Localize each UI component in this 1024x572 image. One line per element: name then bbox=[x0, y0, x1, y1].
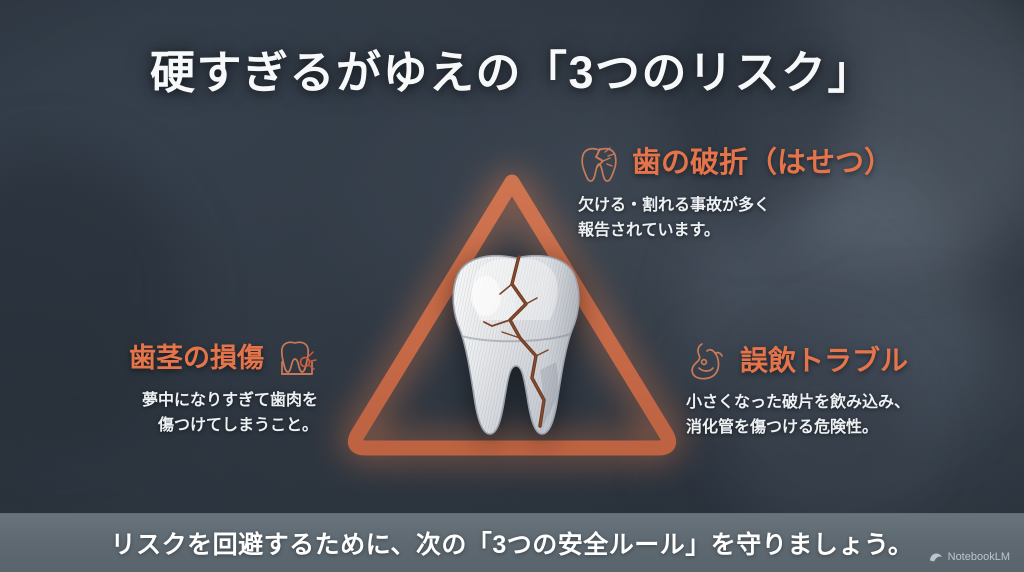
risk-body-line: 傷つけてしまうこと。 bbox=[36, 414, 318, 439]
risk-body: 欠ける・割れる事故が多く 報告されています。 bbox=[578, 194, 893, 244]
risk-body-line: 消化管を傷つける危険性。 bbox=[686, 416, 910, 441]
risk-body-line: 夢中になりすぎて歯肉を bbox=[36, 389, 318, 414]
page-title: 硬すぎるがゆえの「3つのリスク」 bbox=[0, 36, 1024, 101]
watermark-label: NotebookLM bbox=[948, 551, 1010, 563]
risk-heading-row: 歯の破折（はせつ） bbox=[578, 143, 893, 185]
risk-heading-row: 歯茎の損傷 bbox=[36, 338, 318, 380]
risk-body-line: 小さくなった破片を飲み込み、 bbox=[686, 391, 910, 416]
risk-body-line: 報告されています。 bbox=[578, 219, 893, 244]
risk-body: 小さくなった破片を飲み込み、 消化管を傷つける危険性。 bbox=[686, 391, 910, 441]
risk-heading-row: 誤飲トラブル bbox=[686, 340, 910, 382]
risk-item-fracture: 歯の破折（はせつ） 欠ける・割れる事故が多く 報告されています。 bbox=[578, 143, 893, 244]
risk-body: 夢中になりすぎて歯肉を 傷つけてしまうこと。 bbox=[36, 389, 318, 439]
risk-body-line: 欠ける・割れる事故が多く bbox=[578, 194, 893, 219]
cracked-tooth-illustration bbox=[440, 250, 592, 442]
footer-text: リスクを回避するために、次の「3つの安全ルール」を守りましょう。 bbox=[111, 525, 914, 561]
stomach-icon bbox=[686, 340, 728, 382]
slide-canvas: 硬すぎるがゆえの「3つのリスク」 bbox=[0, 0, 1024, 572]
footer-bar: リスクを回避するために、次の「3つの安全ルール」を守りましょう。 Noteboo… bbox=[0, 513, 1024, 572]
notebooklm-watermark: NotebookLM bbox=[929, 551, 1010, 563]
risk-heading: 歯の破折（はせつ） bbox=[632, 148, 893, 180]
risk-item-gum: 歯茎の損傷 夢中になりすぎて歯肉を 傷つけてしまうこと。 bbox=[36, 338, 318, 439]
cracked-tooth-icon bbox=[578, 143, 620, 185]
notebooklm-logo-icon bbox=[929, 551, 943, 563]
risk-heading: 歯茎の損傷 bbox=[129, 344, 264, 374]
risk-item-swallow: 誤飲トラブル 小さくなった破片を飲み込み、 消化管を傷つける危険性。 bbox=[686, 340, 910, 441]
risk-heading: 誤飲トラブル bbox=[740, 346, 908, 377]
injured-gum-icon bbox=[276, 338, 318, 380]
